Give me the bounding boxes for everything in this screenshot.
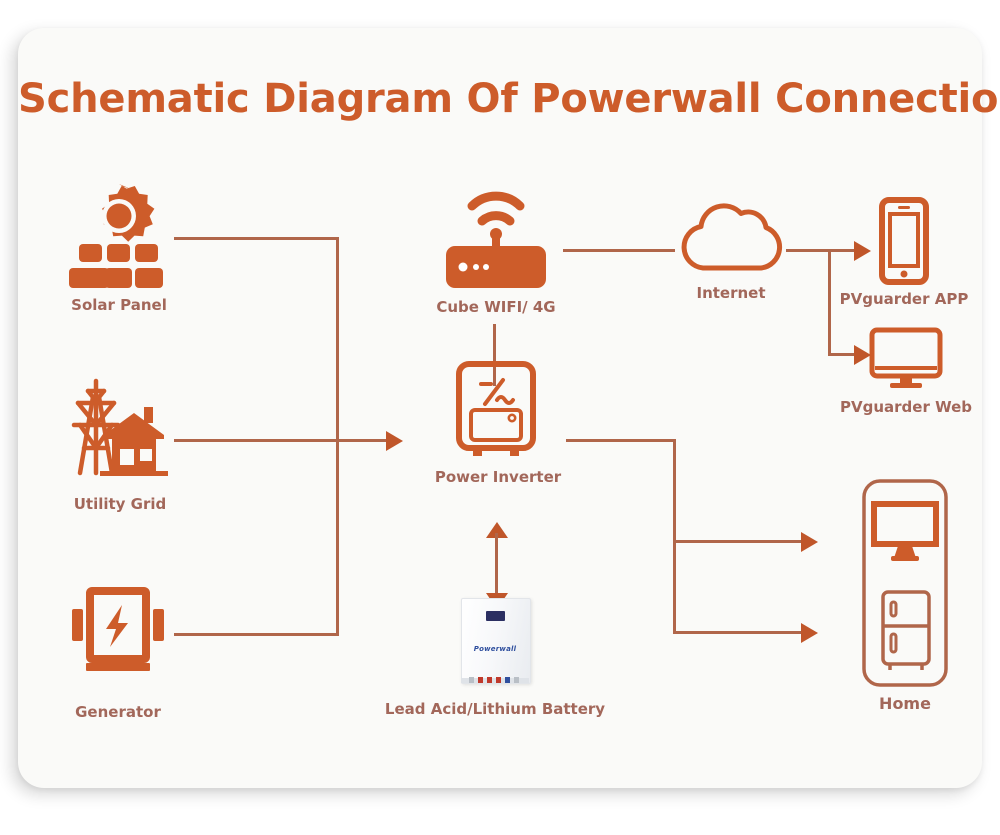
- node-solar-panel[interactable]: Solar Panel: [63, 178, 175, 288]
- battery-terminal: [505, 677, 510, 683]
- solar-panel-label: Solar Panel: [49, 296, 189, 314]
- generator-icon: [68, 583, 168, 678]
- power-inverter-icon: [455, 362, 537, 462]
- diagram-canvas: Schematic Diagram Of Powerwall Connectio…: [0, 0, 1000, 835]
- battery-lcd-display: [486, 611, 505, 621]
- home-label: Home: [835, 694, 975, 713]
- wire-branch-to-app: [828, 249, 856, 252]
- internet-label: Internet: [661, 284, 801, 302]
- node-router[interactable]: Cube WIFI/ 4G: [436, 176, 556, 286]
- battery-terminal: [514, 677, 519, 683]
- wire-internet-to-branch: [786, 249, 831, 252]
- pvguarder-app-label: PVguarder APP: [814, 290, 994, 308]
- node-home[interactable]: Home: [861, 478, 949, 688]
- wire-inverter-to-home-bus: [566, 439, 676, 442]
- battery-terminal: [469, 677, 474, 683]
- battery-terminal: [496, 677, 501, 683]
- wire-inverter-battery: [495, 533, 498, 595]
- wire-left-bus-vertical: [336, 237, 339, 636]
- battery-terminal: [487, 677, 492, 683]
- wire-home-lower: [673, 631, 803, 634]
- arrow-home-upper: [801, 532, 818, 552]
- solar-panel-icon: [63, 178, 175, 288]
- home-appliances-icon: [861, 478, 949, 688]
- power-inverter-label: Power Inverter: [413, 468, 583, 486]
- wire-home-bus-vertical: [673, 439, 676, 634]
- pvguarder-web-label: PVguarder Web: [806, 398, 1000, 416]
- wire-solar-to-bus: [174, 237, 339, 240]
- node-internet[interactable]: Internet: [673, 196, 789, 276]
- generator-label: Generator: [48, 703, 188, 721]
- arrow-home-lower: [801, 623, 818, 643]
- desktop-monitor-icon: [868, 328, 944, 392]
- diagram-card: Schematic Diagram Of Powerwall Connectio…: [18, 28, 982, 788]
- wire-grid-to-inverter: [174, 439, 388, 442]
- node-pvguarder-app[interactable]: PVguarder APP: [874, 198, 934, 284]
- wifi-router-icon: [436, 176, 556, 286]
- arrow-to-app: [854, 241, 871, 261]
- router-label: Cube WIFI/ 4G: [416, 298, 576, 316]
- page-title: Schematic Diagram Of Powerwall Connectio…: [18, 76, 982, 122]
- node-power-inverter[interactable]: Power Inverter: [455, 362, 537, 462]
- battery-terminal: [478, 677, 483, 683]
- node-pvguarder-web[interactable]: PVguarder Web: [868, 328, 944, 392]
- node-generator[interactable]: Generator: [68, 583, 168, 678]
- battery-brand-logo: Powerwall: [461, 645, 529, 653]
- wire-generator-to-bus: [174, 633, 339, 636]
- arrow-to-inverter: [386, 431, 403, 451]
- node-battery[interactable]: Powerwall Lead Acid/Lithium Battery: [461, 598, 529, 684]
- utility-grid-label: Utility Grid: [50, 495, 190, 513]
- wire-branch-to-web: [828, 353, 856, 356]
- node-utility-grid[interactable]: Utility Grid: [66, 373, 176, 483]
- cloud-icon: [673, 196, 789, 276]
- wire-router-to-internet: [563, 249, 675, 252]
- wire-home-upper: [673, 540, 803, 543]
- utility-grid-icon: [66, 373, 176, 483]
- battery-label: Lead Acid/Lithium Battery: [375, 700, 615, 718]
- smartphone-icon: [874, 198, 934, 284]
